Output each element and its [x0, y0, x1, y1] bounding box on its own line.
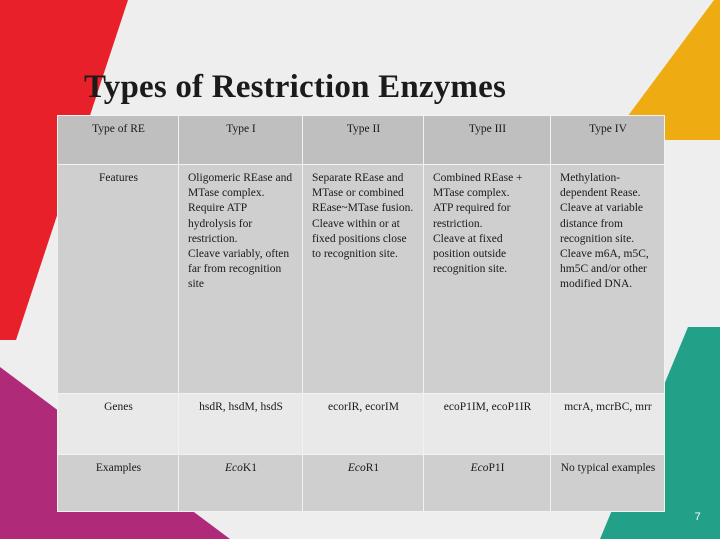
genes-type-iv: mcrA, mcrBC, mrr [551, 394, 665, 455]
examples-type-i-suffix: K1 [243, 462, 257, 474]
table-row-examples: Examples EcoK1 EcoR1 EcoP1I No typical e… [58, 455, 665, 512]
examples-type-i: EcoK1 [179, 455, 303, 512]
genes-type-ii: ecorIR, ecorIM [303, 394, 424, 455]
genes-type-i: hsdR, hsdM, hsdS [179, 394, 303, 455]
examples-type-iii-genus: Eco [471, 462, 489, 474]
page-title: Types of Restriction Enzymes [84, 69, 506, 106]
examples-type-iv-suffix: No typical examples [561, 462, 656, 474]
examples-type-i-genus: Eco [225, 462, 243, 474]
features-type-i: Oligomeric REase and MTase complex. Requ… [179, 165, 303, 394]
slide-number: 7 [695, 511, 701, 523]
column-header-type-iii: Type III [424, 116, 551, 165]
examples-type-iii: EcoP1I [424, 455, 551, 512]
table-row-features: Features Oligomeric REase and MTase comp… [58, 165, 665, 394]
restriction-enzyme-table: Type of RE Type I Type II Type III Type … [57, 115, 665, 512]
examples-type-ii-suffix: R1 [366, 462, 379, 474]
features-type-iv: Methylation-dependent Rease. Cleave at v… [551, 165, 665, 394]
features-type-ii: Separate REase and MTase or combined REa… [303, 165, 424, 394]
column-header-type-i: Type I [179, 116, 303, 165]
row-label-examples: Examples [58, 455, 179, 512]
examples-type-iii-suffix: P1I [488, 462, 504, 474]
genes-type-iii: ecoP1IM, ecoP1IR [424, 394, 551, 455]
column-header-type-iv: Type IV [551, 116, 665, 165]
table-header-row: Type of RE Type I Type II Type III Type … [58, 116, 665, 165]
table-row-genes: Genes hsdR, hsdM, hsdS ecorIR, ecorIM ec… [58, 394, 665, 455]
column-header-type-ii: Type II [303, 116, 424, 165]
row-label-genes: Genes [58, 394, 179, 455]
examples-type-ii: EcoR1 [303, 455, 424, 512]
slide-canvas: 7 Types of Restriction Enzymes Type of R… [0, 0, 720, 539]
column-header-type-of-re: Type of RE [58, 116, 179, 165]
row-label-features: Features [58, 165, 179, 394]
examples-type-iv: No typical examples [551, 455, 665, 512]
features-type-iii: Combined REase + MTase complex. ATP requ… [424, 165, 551, 394]
examples-type-ii-genus: Eco [348, 462, 366, 474]
